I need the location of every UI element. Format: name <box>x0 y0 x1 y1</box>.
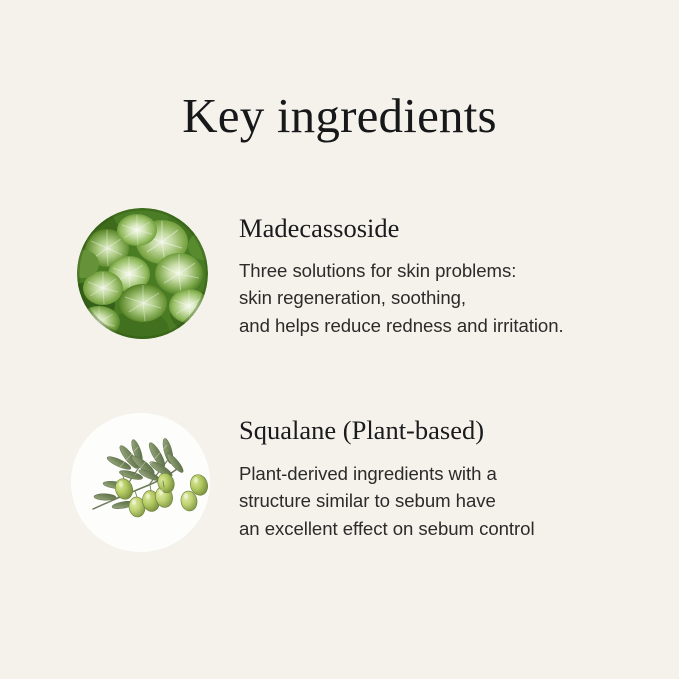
ingredient-name: Madecassoside <box>239 200 659 245</box>
ingredient-item: Madecassoside Three solutions for skin p… <box>0 200 679 350</box>
ingredient-description: Plant-derived ingredients with a structu… <box>239 447 659 543</box>
key-ingredients-panel: Key ingredients <box>0 0 679 679</box>
olive-branch-illustration <box>71 413 210 552</box>
page-title: Key ingredients <box>0 89 679 143</box>
centella-leaves-photo <box>77 208 208 339</box>
ingredient-text-block: Squalane (Plant-based) Plant-derived ing… <box>239 405 659 542</box>
ingredient-text-block: Madecassoside Three solutions for skin p… <box>239 200 659 339</box>
ingredient-item: Squalane (Plant-based) Plant-derived ing… <box>0 405 679 555</box>
ingredient-name: Squalane (Plant-based) <box>239 405 659 447</box>
ingredient-description: Three solutions for skin problems: skin … <box>239 245 659 340</box>
